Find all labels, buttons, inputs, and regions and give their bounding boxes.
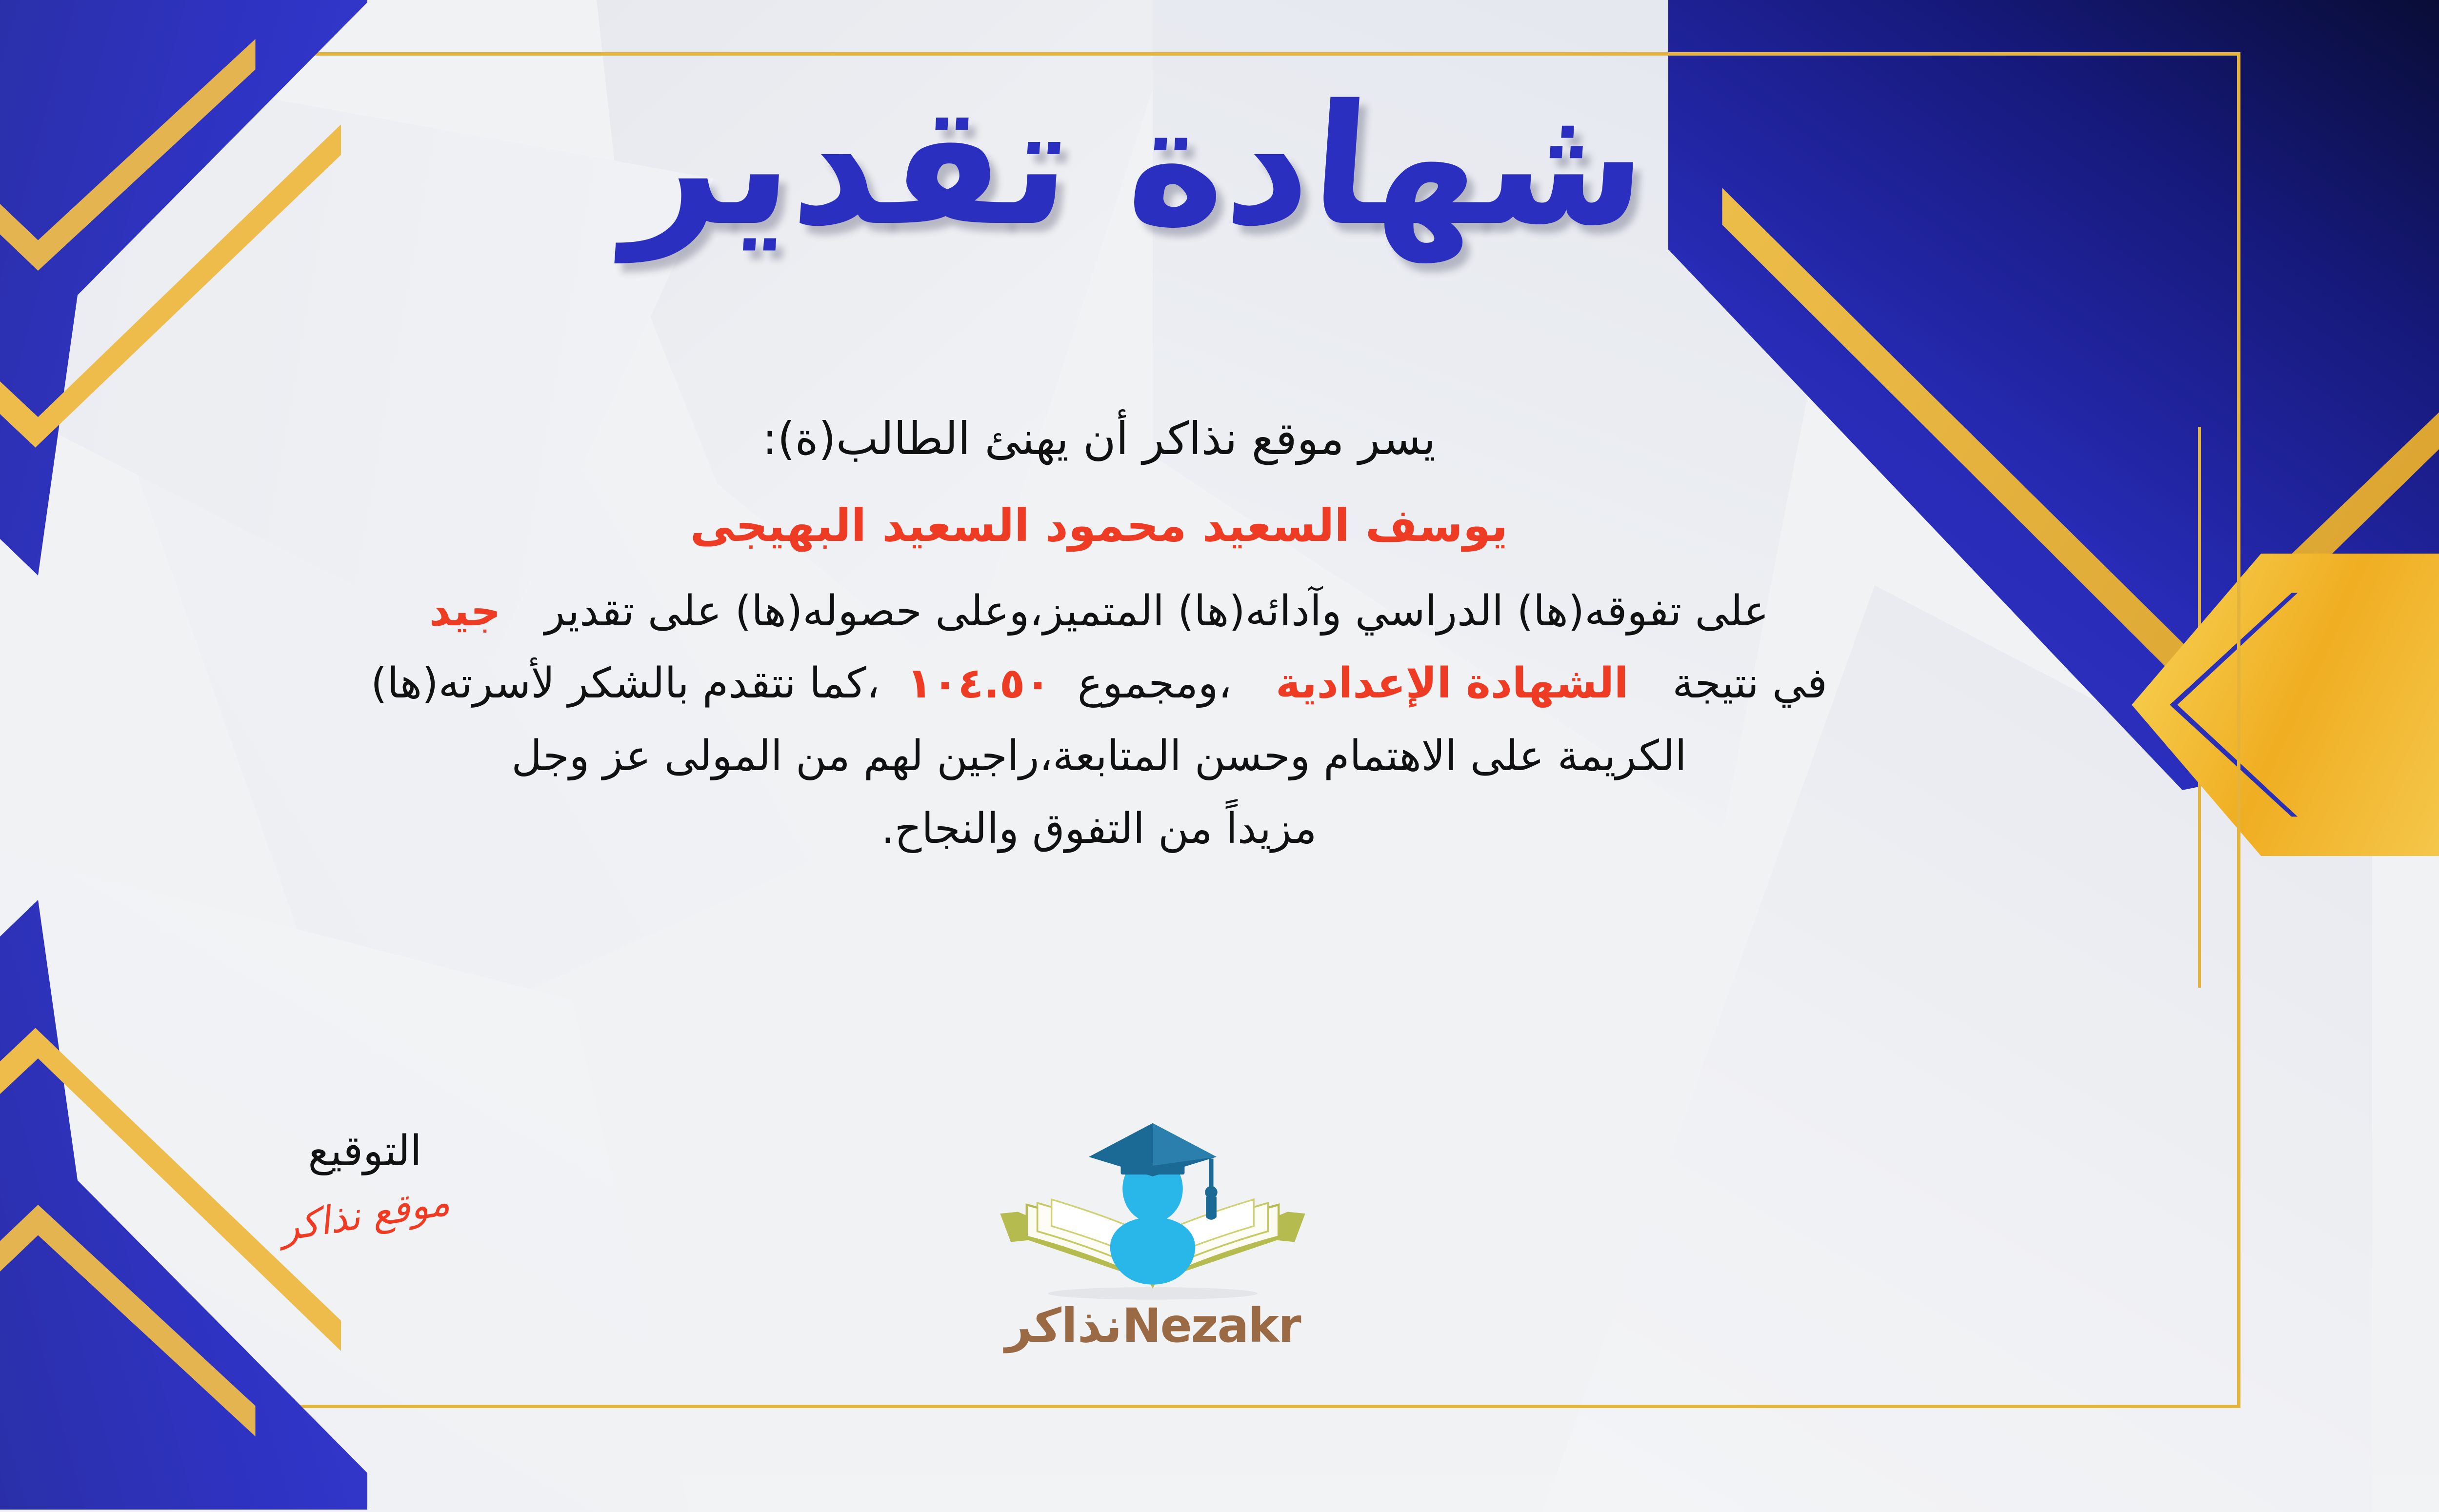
certificate-title: شهادة تقدير xyxy=(0,62,2439,270)
logo-wordmark-ar: نذاكر xyxy=(1005,1298,1122,1353)
exam-name: الشهادة الإعدادية xyxy=(1276,659,1628,708)
graduate-over-open-book-icon xyxy=(972,1107,1333,1302)
exam-and-score-line: في نتيجةالشهادة الإعدادية،ومجموع١٠٤.٥٠،ك… xyxy=(0,652,2226,716)
thanks-text: ،كما نتقدم بالشكر لأسرته(ها) xyxy=(371,659,880,708)
student-name: يوسف السعيد محمود السعيد البهيجى xyxy=(0,492,2226,560)
exam-prefix: في نتيجة xyxy=(1672,659,1827,708)
grade-value: جيد xyxy=(429,587,501,636)
nezakr-logo: Nezakrنذاكر xyxy=(972,1107,1333,1380)
closing-line: مزيداً من التفوق والنجاح. xyxy=(0,797,2226,861)
logo-wordmark-en: Nezakr xyxy=(1122,1298,1300,1353)
achievement-text: على تفوقه(ها) الدراسي وآدائه(ها) المتميز… xyxy=(545,587,1769,636)
intro-line: يسر موقع نذاكر أن يهنئ الطالب(ة): xyxy=(0,405,2226,473)
certificate-body: يسر موقع نذاكر أن يهنئ الطالب(ة): يوسف ا… xyxy=(0,405,2226,861)
graduate-book-icon xyxy=(972,1107,1333,1302)
family-thanks-line: الكريمة على الاهتمام وحسن المتابعة،راجين… xyxy=(0,724,2226,788)
achievement-line: على تفوقه(ها) الدراسي وآدائه(ها) المتميز… xyxy=(0,579,2226,643)
logo-wordmark: Nezakrنذاكر xyxy=(972,1298,1333,1353)
signature-block: التوقيع موقع نذاكر xyxy=(206,1127,523,1237)
total-label: ،ومجموع xyxy=(1078,659,1232,708)
total-score: ١٠٤.٥٠ xyxy=(907,659,1051,708)
signature-label: التوقيع xyxy=(206,1127,523,1175)
